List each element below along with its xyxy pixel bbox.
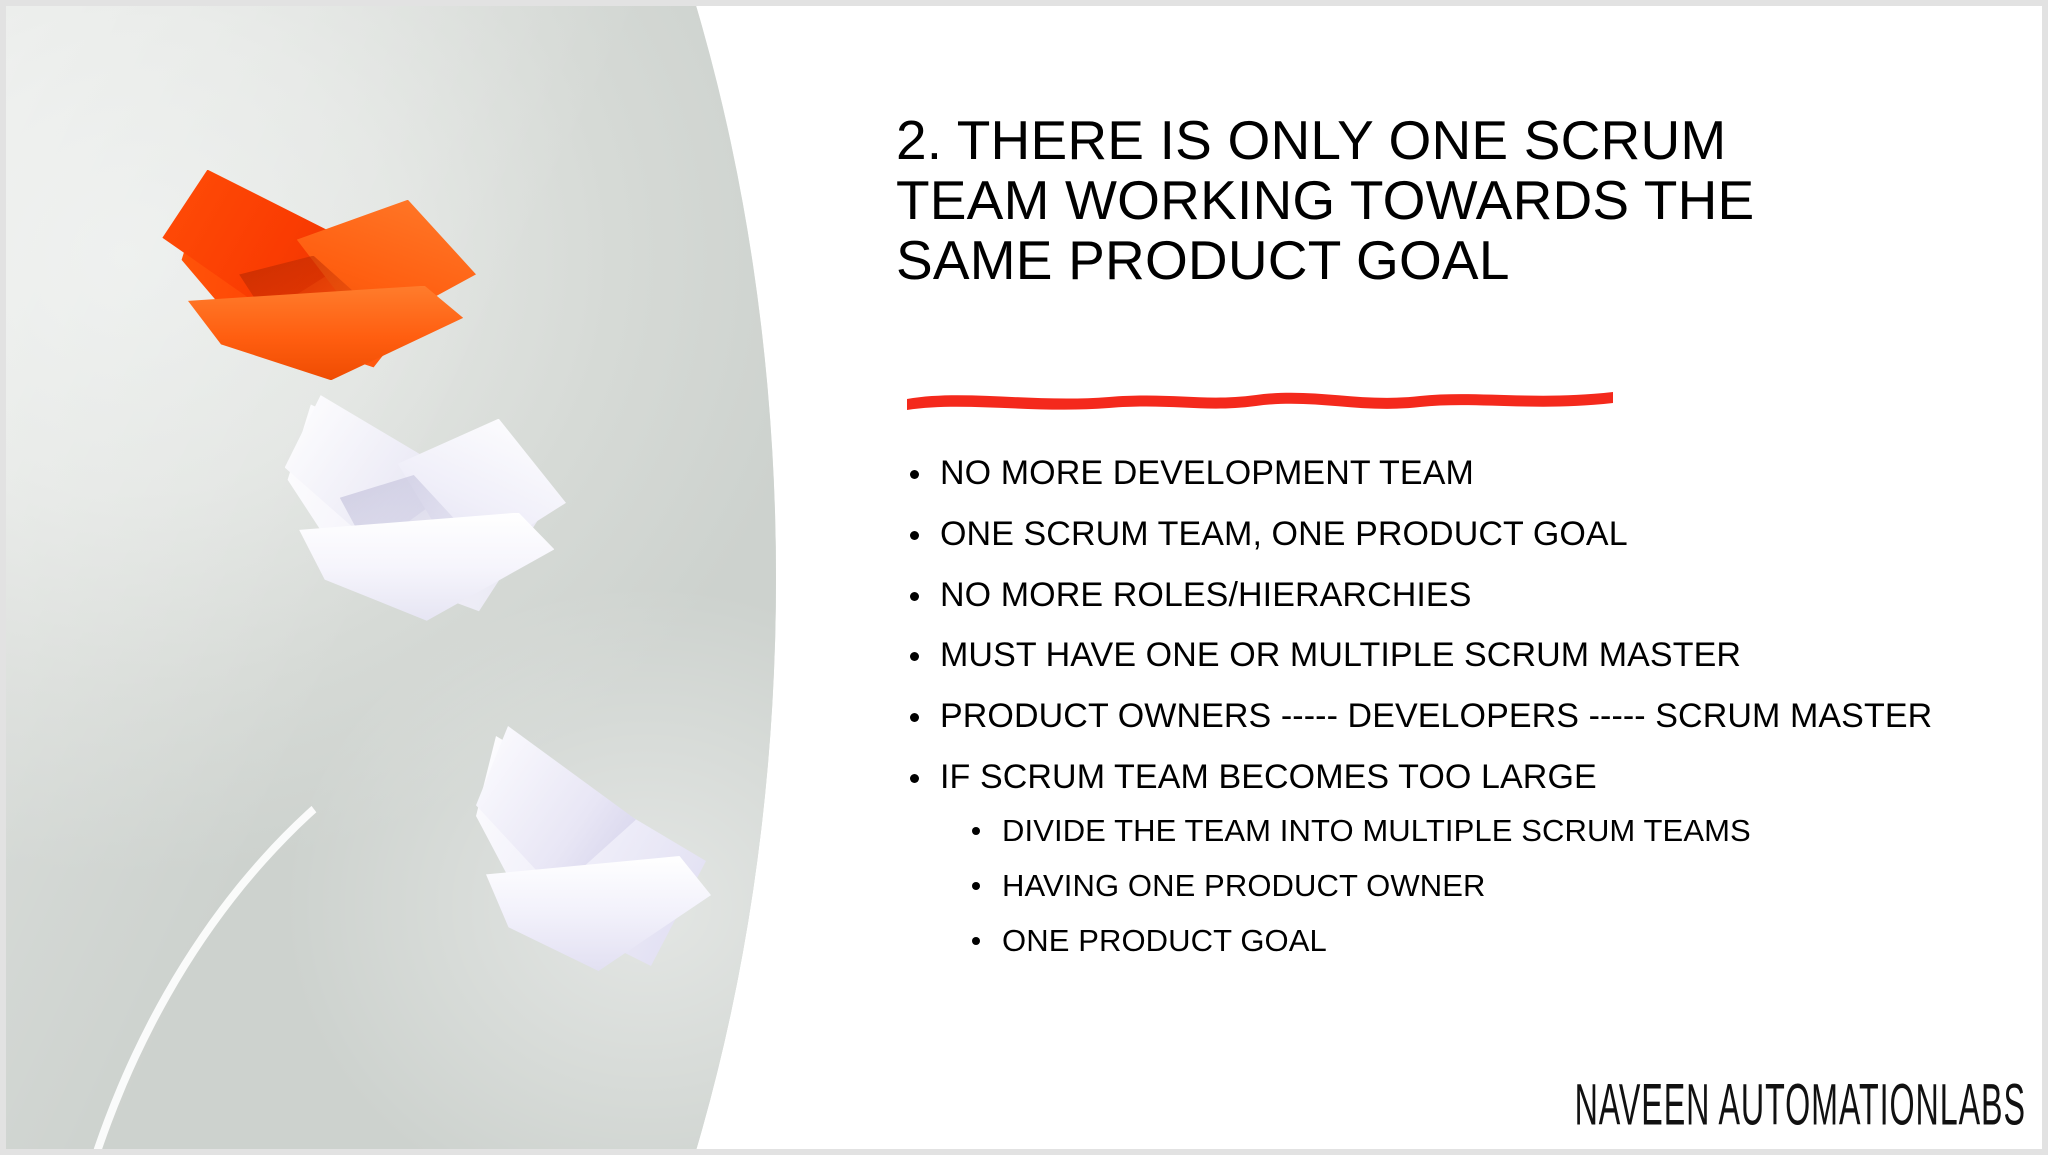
bullet-list: NO MORE DEVELOPMENT TEAM ONE SCRUM TEAM,… (896, 454, 1956, 980)
sub-bullet-list: DIVIDE THE TEAM INTO MULTIPLE SCRUM TEAM… (956, 813, 1956, 959)
list-item: NO MORE ROLES/HIERARCHIES (896, 576, 1956, 615)
sub-bullet-text: HAVING ONE PRODUCT OWNER (1002, 868, 1486, 903)
slide-title: 2. THERE IS ONLY ONE SCRUM TEAM WORKING … (896, 111, 1886, 291)
list-item: PRODUCT OWNERS ----- DEVELOPERS ----- SC… (896, 697, 1956, 736)
boat-base (486, 856, 711, 971)
sub-list-item: ONE PRODUCT GOAL (956, 923, 1956, 958)
boat-base (299, 513, 554, 621)
white-paper-boat-partial (471, 716, 721, 966)
red-underline-accent (904, 381, 1616, 415)
white-paper-boat (276, 381, 566, 616)
slide: 2. THERE IS ONLY ONE SCRUM TEAM WORKING … (0, 0, 2048, 1155)
orange-paper-boat (156, 161, 476, 376)
photo-clip (6, 6, 816, 1149)
list-item: ONE SCRUM TEAM, ONE PRODUCT GOAL (896, 515, 1956, 554)
sub-list-item: DIVIDE THE TEAM INTO MULTIPLE SCRUM TEAM… (956, 813, 1956, 848)
photo-panel (6, 6, 816, 1149)
bullet-text: PRODUCT OWNERS ----- DEVELOPERS ----- SC… (940, 697, 1932, 735)
bullet-text: ONE SCRUM TEAM, ONE PRODUCT GOAL (940, 515, 1628, 553)
list-item: NO MORE DEVELOPMENT TEAM (896, 454, 1956, 493)
boat-base (188, 286, 463, 381)
content-column: 2. THERE IS ONLY ONE SCRUM TEAM WORKING … (896, 6, 2042, 1149)
list-item: MUST HAVE ONE OR MULTIPLE SCRUM MASTER (896, 636, 1956, 675)
sub-bullet-text: ONE PRODUCT GOAL (1002, 923, 1327, 958)
bullet-text: NO MORE ROLES/HIERARCHIES (940, 576, 1471, 614)
sub-list-item: HAVING ONE PRODUCT OWNER (956, 868, 1956, 903)
list-item: IF SCRUM TEAM BECOMES TOO LARGE DIVIDE T… (896, 758, 1956, 959)
bullet-text: NO MORE DEVELOPMENT TEAM (940, 454, 1474, 492)
brand-watermark: NAVEEN AUTOMATIONLABS (1575, 1072, 2026, 1139)
bullet-text: MUST HAVE ONE OR MULTIPLE SCRUM MASTER (940, 636, 1741, 674)
sub-bullet-text: DIVIDE THE TEAM INTO MULTIPLE SCRUM TEAM… (1002, 813, 1751, 848)
bullet-text: IF SCRUM TEAM BECOMES TOO LARGE (940, 758, 1597, 796)
